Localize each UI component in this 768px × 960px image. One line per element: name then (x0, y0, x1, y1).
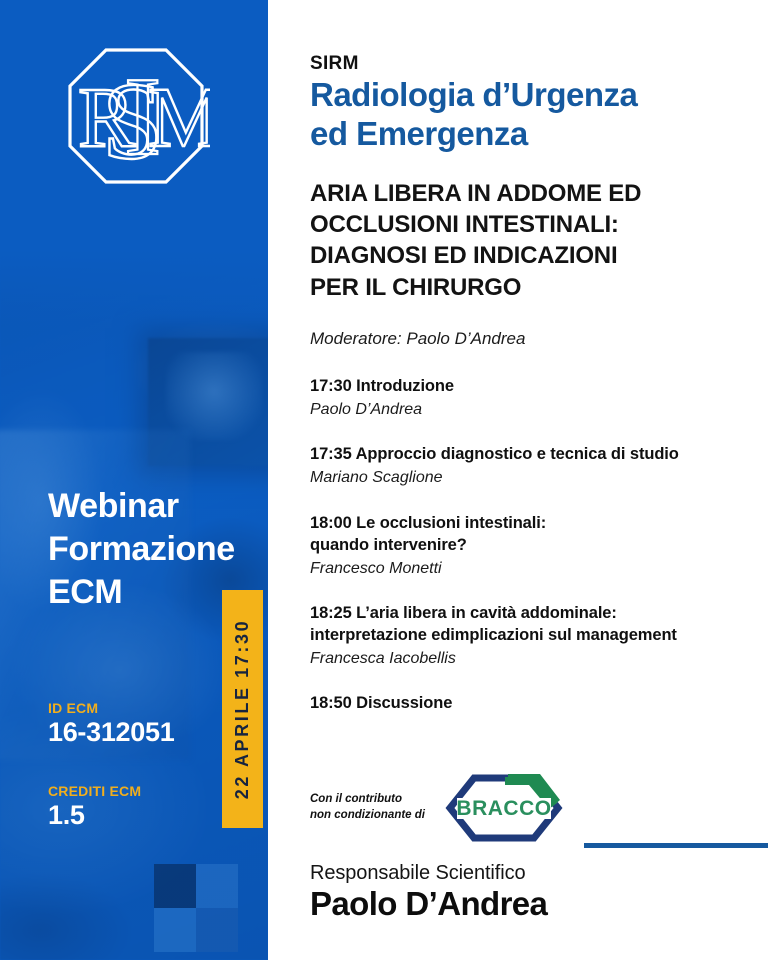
crediti-ecm-value: 1.5 (48, 801, 223, 829)
svg-text:I: I (124, 55, 161, 179)
content-panel: SIRM Radiologia d’Urgenza ed Emergenza A… (268, 0, 768, 960)
sponsor-caption: Con il contributo non condizionante di (310, 792, 435, 823)
program-title-line: interpretazione edimplicazioni sul manag… (310, 626, 677, 644)
program-item: 18:00 Le occlusioni intestinali: quando … (310, 513, 750, 580)
sponsor-caption-line-2: non condizionante di (310, 809, 425, 821)
sponsor-caption-line-1: Con il contributo (310, 793, 402, 805)
webinar-line-2: Formazione (48, 528, 238, 571)
program-title-line: 17:30 Introduzione (310, 377, 454, 395)
program-item-speaker: Mariano Scaglione (310, 467, 750, 489)
program-item-title: 18:25 L’aria libera in cavità addominale… (310, 603, 750, 647)
program-title-line: 17:35 Approccio diagnostico e tecnica di… (310, 445, 679, 463)
crediti-ecm-label: CREDITI ECM (48, 783, 223, 799)
program-item-speaker: Francesco Monetti (310, 558, 750, 580)
sirm-logo: R M S I (62, 42, 210, 190)
program-item-title: 18:00 Le occlusioni intestinali: quando … (310, 513, 750, 557)
brand-title-line-2: ed Emergenza (310, 115, 528, 152)
program-title-line: quando intervenire? (310, 536, 467, 554)
session-title-line-4: PER IL CHIRURGO (310, 274, 521, 301)
sidebar: R M S I Webinar Formazione ECM ID ECM 16… (0, 0, 268, 960)
moderator-line: Moderatore: Paolo D’Andrea (310, 329, 525, 349)
program-item-speaker: Francesca Iacobellis (310, 648, 750, 670)
page-title: Radiologia d’Urgenza ed Emergenza (310, 76, 740, 153)
date-badge-label: 22 APRILE 17:30 (222, 590, 263, 828)
mosaic-tile (154, 864, 196, 908)
program-item-title: 18:50 Discussione (310, 693, 750, 715)
program-item-title: 17:30 Introduzione (310, 376, 750, 398)
id-ecm-value: 16-312051 (48, 718, 223, 746)
session-title: ARIA LIBERA IN ADDOME ED OCCLUSIONI INTE… (310, 178, 730, 303)
program-title-line: 18:50 Discussione (310, 694, 452, 712)
program-item: 17:30 Introduzione Paolo D’Andrea (310, 376, 750, 421)
footer-divider (584, 843, 768, 848)
mosaic-tile (196, 864, 238, 908)
id-ecm-label: ID ECM (48, 700, 223, 716)
mosaic-tile (196, 908, 238, 952)
program-item: 18:50 Discussione (310, 693, 750, 715)
program-title-line: 18:00 Le occlusioni intestinali: (310, 514, 546, 532)
webinar-line-3: ECM (48, 571, 238, 614)
webinar-line-1: Webinar (48, 485, 238, 528)
brand-title-line-1: Radiologia d’Urgenza (310, 76, 637, 113)
event-poster: R M S I Webinar Formazione ECM ID ECM 16… (0, 0, 768, 960)
program-title-line: 18:25 L’aria libera in cavità addominale… (310, 604, 617, 622)
webinar-heading: Webinar Formazione ECM (48, 485, 238, 615)
session-title-line-3: DIAGNOSI ED INDICAZIONI (310, 242, 617, 269)
program-item-title: 17:35 Approccio diagnostico e tecnica di… (310, 444, 750, 466)
bracco-logo: BRACCO (445, 772, 563, 844)
sponsor-block: Con il contributo non condizionante di B… (310, 772, 563, 844)
responsible-label: Responsabile Scientifico (310, 862, 526, 885)
brand-kicker: SIRM (310, 53, 359, 75)
id-ecm-block: ID ECM 16-312051 (48, 700, 223, 746)
program-list: 17:30 Introduzione Paolo D’Andrea 17:35 … (310, 376, 750, 715)
responsible-name: Paolo D’Andrea (310, 885, 547, 923)
program-item: 17:35 Approccio diagnostico e tecnica di… (310, 444, 750, 489)
program-item: 18:25 L’aria libera in cavità addominale… (310, 603, 750, 670)
session-title-line-1: ARIA LIBERA IN ADDOME ED (310, 180, 641, 207)
session-title-line-2: OCCLUSIONI INTESTINALI: (310, 211, 619, 238)
crediti-ecm-block: CREDITI ECM 1.5 (48, 783, 223, 829)
svg-text:BRACCO: BRACCO (456, 797, 551, 820)
program-item-speaker: Paolo D’Andrea (310, 399, 750, 421)
mosaic-tile (154, 908, 196, 952)
date-badge: 22 APRILE 17:30 (222, 590, 263, 828)
